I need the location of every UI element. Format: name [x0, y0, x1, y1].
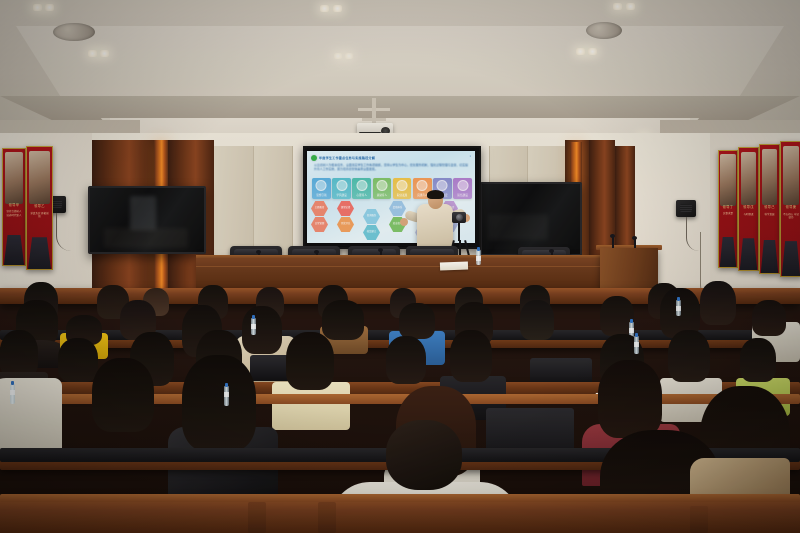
- leader-portrait-poster: 领导戊 与时俱进: [738, 147, 759, 271]
- attendee-hair: [700, 281, 736, 325]
- slide-hex-cell: 档案建立: [363, 225, 380, 240]
- hex-label: 咨询服务: [367, 215, 377, 218]
- water-bottle: [634, 336, 639, 354]
- slide-body-text: 以立德树人为根本任务，全面落实学生工作各项措施，坚持以学生为中心，优化服务机制，…: [314, 163, 468, 171]
- leader-portrait-poster: 领导己 科学发展: [759, 144, 780, 274]
- poster-name: 领导庚: [781, 204, 800, 209]
- ceiling-downlight: [613, 3, 622, 10]
- front-desk: [0, 498, 800, 533]
- card-circle-icon: [376, 180, 387, 191]
- hex-label: 课堂纪律: [341, 207, 351, 210]
- poster-portrait-face: [5, 152, 23, 203]
- attendee-hair: [286, 332, 334, 390]
- slide-card: 思想引领: [312, 178, 331, 199]
- card-label: 职业发展: [394, 194, 411, 197]
- ceiling-downlight: [333, 5, 342, 12]
- wall-speaker-icon: [676, 200, 696, 217]
- ceiling-downlight: [45, 4, 54, 11]
- podium-microphone-icon: [634, 238, 636, 248]
- slide-card: 职业发展: [393, 178, 412, 199]
- poster-text: 实事求是: [721, 212, 735, 215]
- hex-label: 评优评先: [341, 223, 351, 226]
- poster-text: 坚持立德树人 培养时代新人: [5, 210, 23, 217]
- speaker-cable: [686, 217, 699, 251]
- slide-hex-cell: 评优评先: [337, 217, 354, 232]
- desk-leg: [690, 506, 708, 533]
- speaker-cable: [56, 213, 71, 251]
- ceiling-downlight: [100, 50, 109, 57]
- front-desk-edge: [0, 494, 800, 502]
- tv-reflection: [488, 214, 548, 240]
- poster-portrait-suit: [761, 240, 778, 273]
- wall-mounted-tv-left[interactable]: [88, 186, 206, 254]
- card-label: 学风建设: [333, 194, 350, 197]
- hex-label: 日常管理: [315, 223, 325, 226]
- card-label: 心理育人: [353, 194, 370, 197]
- attendee-hair: [450, 330, 492, 382]
- attendee-hair: [182, 355, 256, 451]
- poster-portrait-face: [762, 149, 778, 205]
- poster-text: 与时俱进: [741, 213, 756, 216]
- attendee-head: [386, 420, 462, 490]
- card-label: 队伍建设: [454, 194, 471, 197]
- poster-name: 领导甲: [3, 202, 25, 207]
- slide-page-number: 1: [470, 155, 471, 158]
- attendee-hair: [322, 300, 364, 340]
- presenter-left-hand: [400, 218, 408, 226]
- ceiling-downlight: [334, 53, 342, 59]
- hex-label: 奖助体系: [393, 207, 403, 210]
- slide-title: 年度学生工作重点任务与实施路径分解: [319, 155, 375, 160]
- poster-portrait-suit: [720, 237, 737, 267]
- attendee-hair: [386, 336, 426, 384]
- leader-portrait-poster: 领导丁 实事求是: [718, 150, 738, 268]
- desk-leg: [318, 502, 336, 533]
- ceiling-downlight: [33, 4, 42, 11]
- poster-portrait-face: [783, 146, 800, 205]
- recording-camera-icon: [452, 212, 466, 223]
- card-circle-icon: [356, 180, 367, 191]
- slide-hex-cell: 奖助体系: [389, 201, 406, 216]
- poster-portrait-face: [720, 154, 735, 205]
- slide-bullet-icon: [311, 155, 317, 161]
- leader-portrait-poster: 领导庚 不忘初心 牢记使命: [780, 141, 800, 277]
- water-bottle: [224, 386, 229, 406]
- card-circle-icon: [437, 180, 448, 191]
- poster-portrait-suit: [28, 237, 51, 269]
- slide-card: 队伍建设: [453, 178, 472, 199]
- leader-portrait-poster: 领导乙 求真务实 开拓创新: [26, 146, 53, 270]
- hex-label: 档案建立: [367, 231, 377, 234]
- ceiling-downlight: [88, 50, 97, 57]
- card-label: 思想引领: [313, 194, 330, 197]
- tv-reflection: [104, 228, 188, 248]
- hex-label: 主题教育: [315, 207, 325, 210]
- attendee-hair: [668, 330, 710, 382]
- attendee-hair: [740, 338, 776, 382]
- ceiling-recess-upper: [0, 26, 800, 102]
- poster-name: 领导戊: [739, 204, 758, 209]
- attendee-hair: [598, 360, 662, 438]
- attendee-hair: [92, 358, 154, 432]
- card-circle-icon: [316, 180, 327, 191]
- podium-microphone-icon: [612, 236, 614, 248]
- attendee-hair: [399, 303, 435, 339]
- slide-card: 心理育人: [352, 178, 371, 199]
- handout-papers: [440, 262, 468, 271]
- attendee-hair: [242, 306, 282, 354]
- poster-portrait-face: [29, 151, 50, 205]
- ceiling-speaker-icon: [53, 23, 95, 41]
- projection-screen: 年度学生工作重点任务与实施路径分解 1 以立德树人为根本任务，全面落实学生工作各…: [303, 146, 481, 249]
- slide-hex-cell: 主题教育: [311, 201, 328, 216]
- card-label: 资助育人: [374, 194, 391, 197]
- ceiling-downlight: [345, 53, 353, 59]
- attendee-hair: [752, 300, 786, 336]
- card-circle-icon: [457, 180, 468, 191]
- wall-mounted-tv-right[interactable]: [480, 182, 582, 256]
- ceiling-speaker-icon: [586, 22, 622, 39]
- water-bottle: [476, 250, 481, 265]
- ceiling-downlight: [576, 48, 585, 55]
- conference-hall-photo: 领导甲 坚持立德树人 培养时代新人 领导乙 求真务实 开拓创新 领导丁 实事求是…: [0, 0, 800, 533]
- attendee-hair: [0, 330, 38, 378]
- card-circle-icon: [397, 180, 408, 191]
- poster-text: 求真务实 开拓创新: [30, 212, 50, 219]
- leader-portrait-poster: 领导甲 坚持立德树人 培养时代新人: [2, 148, 26, 266]
- poster-name: 领导己: [760, 204, 779, 209]
- card-circle-icon: [417, 180, 428, 191]
- tripod-center-post: [458, 223, 460, 241]
- slide-card: 学风建设: [332, 178, 351, 199]
- poster-portrait-suit: [740, 238, 757, 270]
- tv-reflection: [130, 196, 156, 230]
- slide-card-row: 思想引领 学风建设 心理育人 资助育人 职业发展 实践育人 安全稳定 队伍建设: [312, 178, 472, 199]
- presenter-hair: [427, 190, 444, 199]
- poster-portrait-suit: [4, 235, 24, 265]
- poster-portrait-face: [741, 152, 757, 206]
- water-bottle: [10, 384, 15, 404]
- projector-mount-bracket: [362, 118, 386, 121]
- poster-name: 领导乙: [27, 203, 52, 208]
- slide-hex-cell: 日常管理: [311, 217, 328, 232]
- poster-name: 领导丁: [719, 204, 737, 209]
- poster-portrait-suit: [782, 241, 800, 276]
- attendee-hair: [58, 338, 98, 382]
- card-circle-icon: [336, 180, 347, 191]
- slide-hex-cell: 课堂纪律: [337, 201, 354, 216]
- ceiling-downlight: [626, 3, 635, 10]
- slide-header: 年度学生工作重点任务与实施路径分解: [311, 154, 471, 161]
- slide-card: 资助育人: [373, 178, 392, 199]
- slide-hex-cell: 咨询服务: [363, 209, 380, 224]
- attendee-hair: [520, 300, 554, 340]
- desk-leg: [248, 502, 266, 533]
- poster-text: 科学发展: [762, 213, 777, 216]
- water-bottle: [251, 318, 256, 335]
- ceiling-downlight: [588, 48, 597, 55]
- water-bottle: [676, 300, 681, 316]
- ceiling-downlight: [320, 5, 329, 12]
- poster-text: 不忘初心 牢记使命: [783, 213, 799, 220]
